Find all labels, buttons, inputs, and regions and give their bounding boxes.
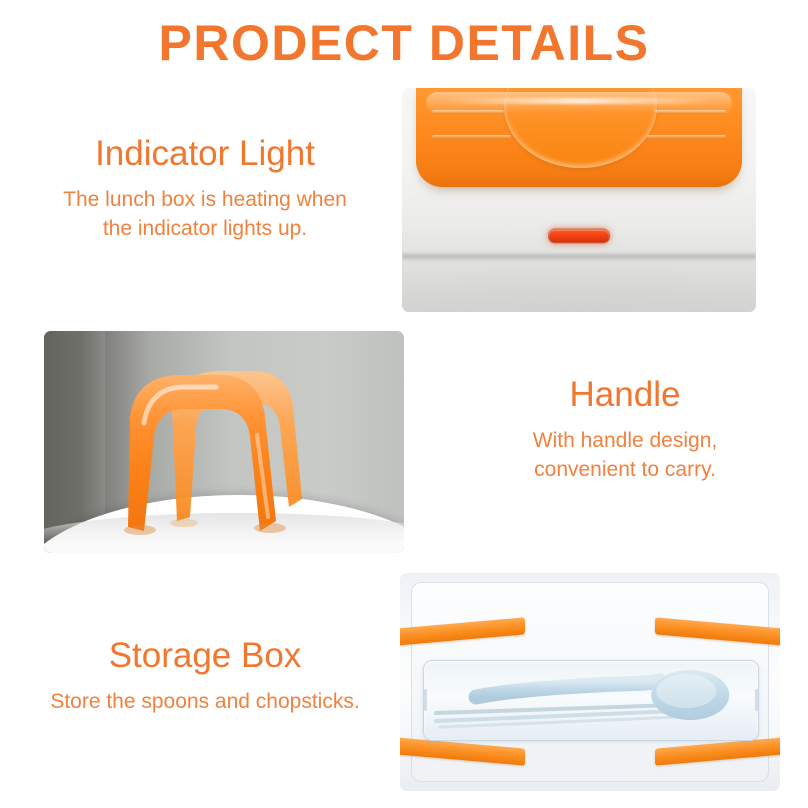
- orange-handles-illustration: [44, 331, 404, 553]
- section-text-handle: Handle With handle design, convenient to…: [455, 375, 795, 484]
- heading-handle: Handle: [455, 375, 795, 415]
- lid-ridge: [654, 110, 726, 114]
- photo-storage-box: [400, 573, 780, 791]
- lid-gloss-highlight: [442, 98, 716, 104]
- cutlery-illustration: [424, 661, 758, 739]
- handle-front: [128, 375, 276, 531]
- lid-oval-emboss: [504, 88, 657, 168]
- infographic-page: PRODECT DETAILS Indicator Light The lunc…: [0, 0, 808, 808]
- description-storage-box: Store the spoons and chopsticks.: [10, 688, 400, 716]
- spoon-bowl-highlight: [656, 674, 716, 708]
- lid-ridge: [647, 135, 725, 139]
- heading-indicator-light: Indicator Light: [18, 134, 392, 174]
- handle-foot-shadow: [170, 519, 198, 527]
- handle-foot-shadow: [124, 525, 156, 535]
- spoon-handle: [476, 681, 660, 697]
- description-line: the indicator lights up.: [18, 215, 392, 243]
- handle-foot-shadow: [254, 523, 286, 533]
- heading-storage-box: Storage Box: [10, 636, 400, 676]
- description-line: The lunch box is heating when: [18, 186, 392, 214]
- section-text-storage-box: Storage Box Store the spoons and chopsti…: [10, 636, 400, 717]
- photo-handle: [44, 331, 404, 553]
- lunchbox-body-seam: [402, 252, 756, 261]
- indicator-light-led: [548, 228, 610, 243]
- lid-ridge: [432, 135, 510, 139]
- lid-ridge: [432, 110, 504, 114]
- description-handle: With handle design, convenient to carry.: [455, 427, 795, 484]
- description-line: convenient to carry.: [455, 456, 795, 484]
- section-text-indicator-light: Indicator Light The lunch box is heating…: [18, 134, 392, 243]
- lunchbox-orange-lid: [416, 88, 742, 187]
- description-line: With handle design,: [455, 427, 795, 455]
- description-line: Store the spoons and chopsticks.: [10, 688, 400, 716]
- page-title: PRODECT DETAILS: [0, 16, 808, 71]
- photo-indicator-light: [402, 88, 756, 312]
- cutlery-storage-case: [423, 660, 759, 740]
- description-indicator-light: The lunch box is heating when the indica…: [18, 186, 392, 243]
